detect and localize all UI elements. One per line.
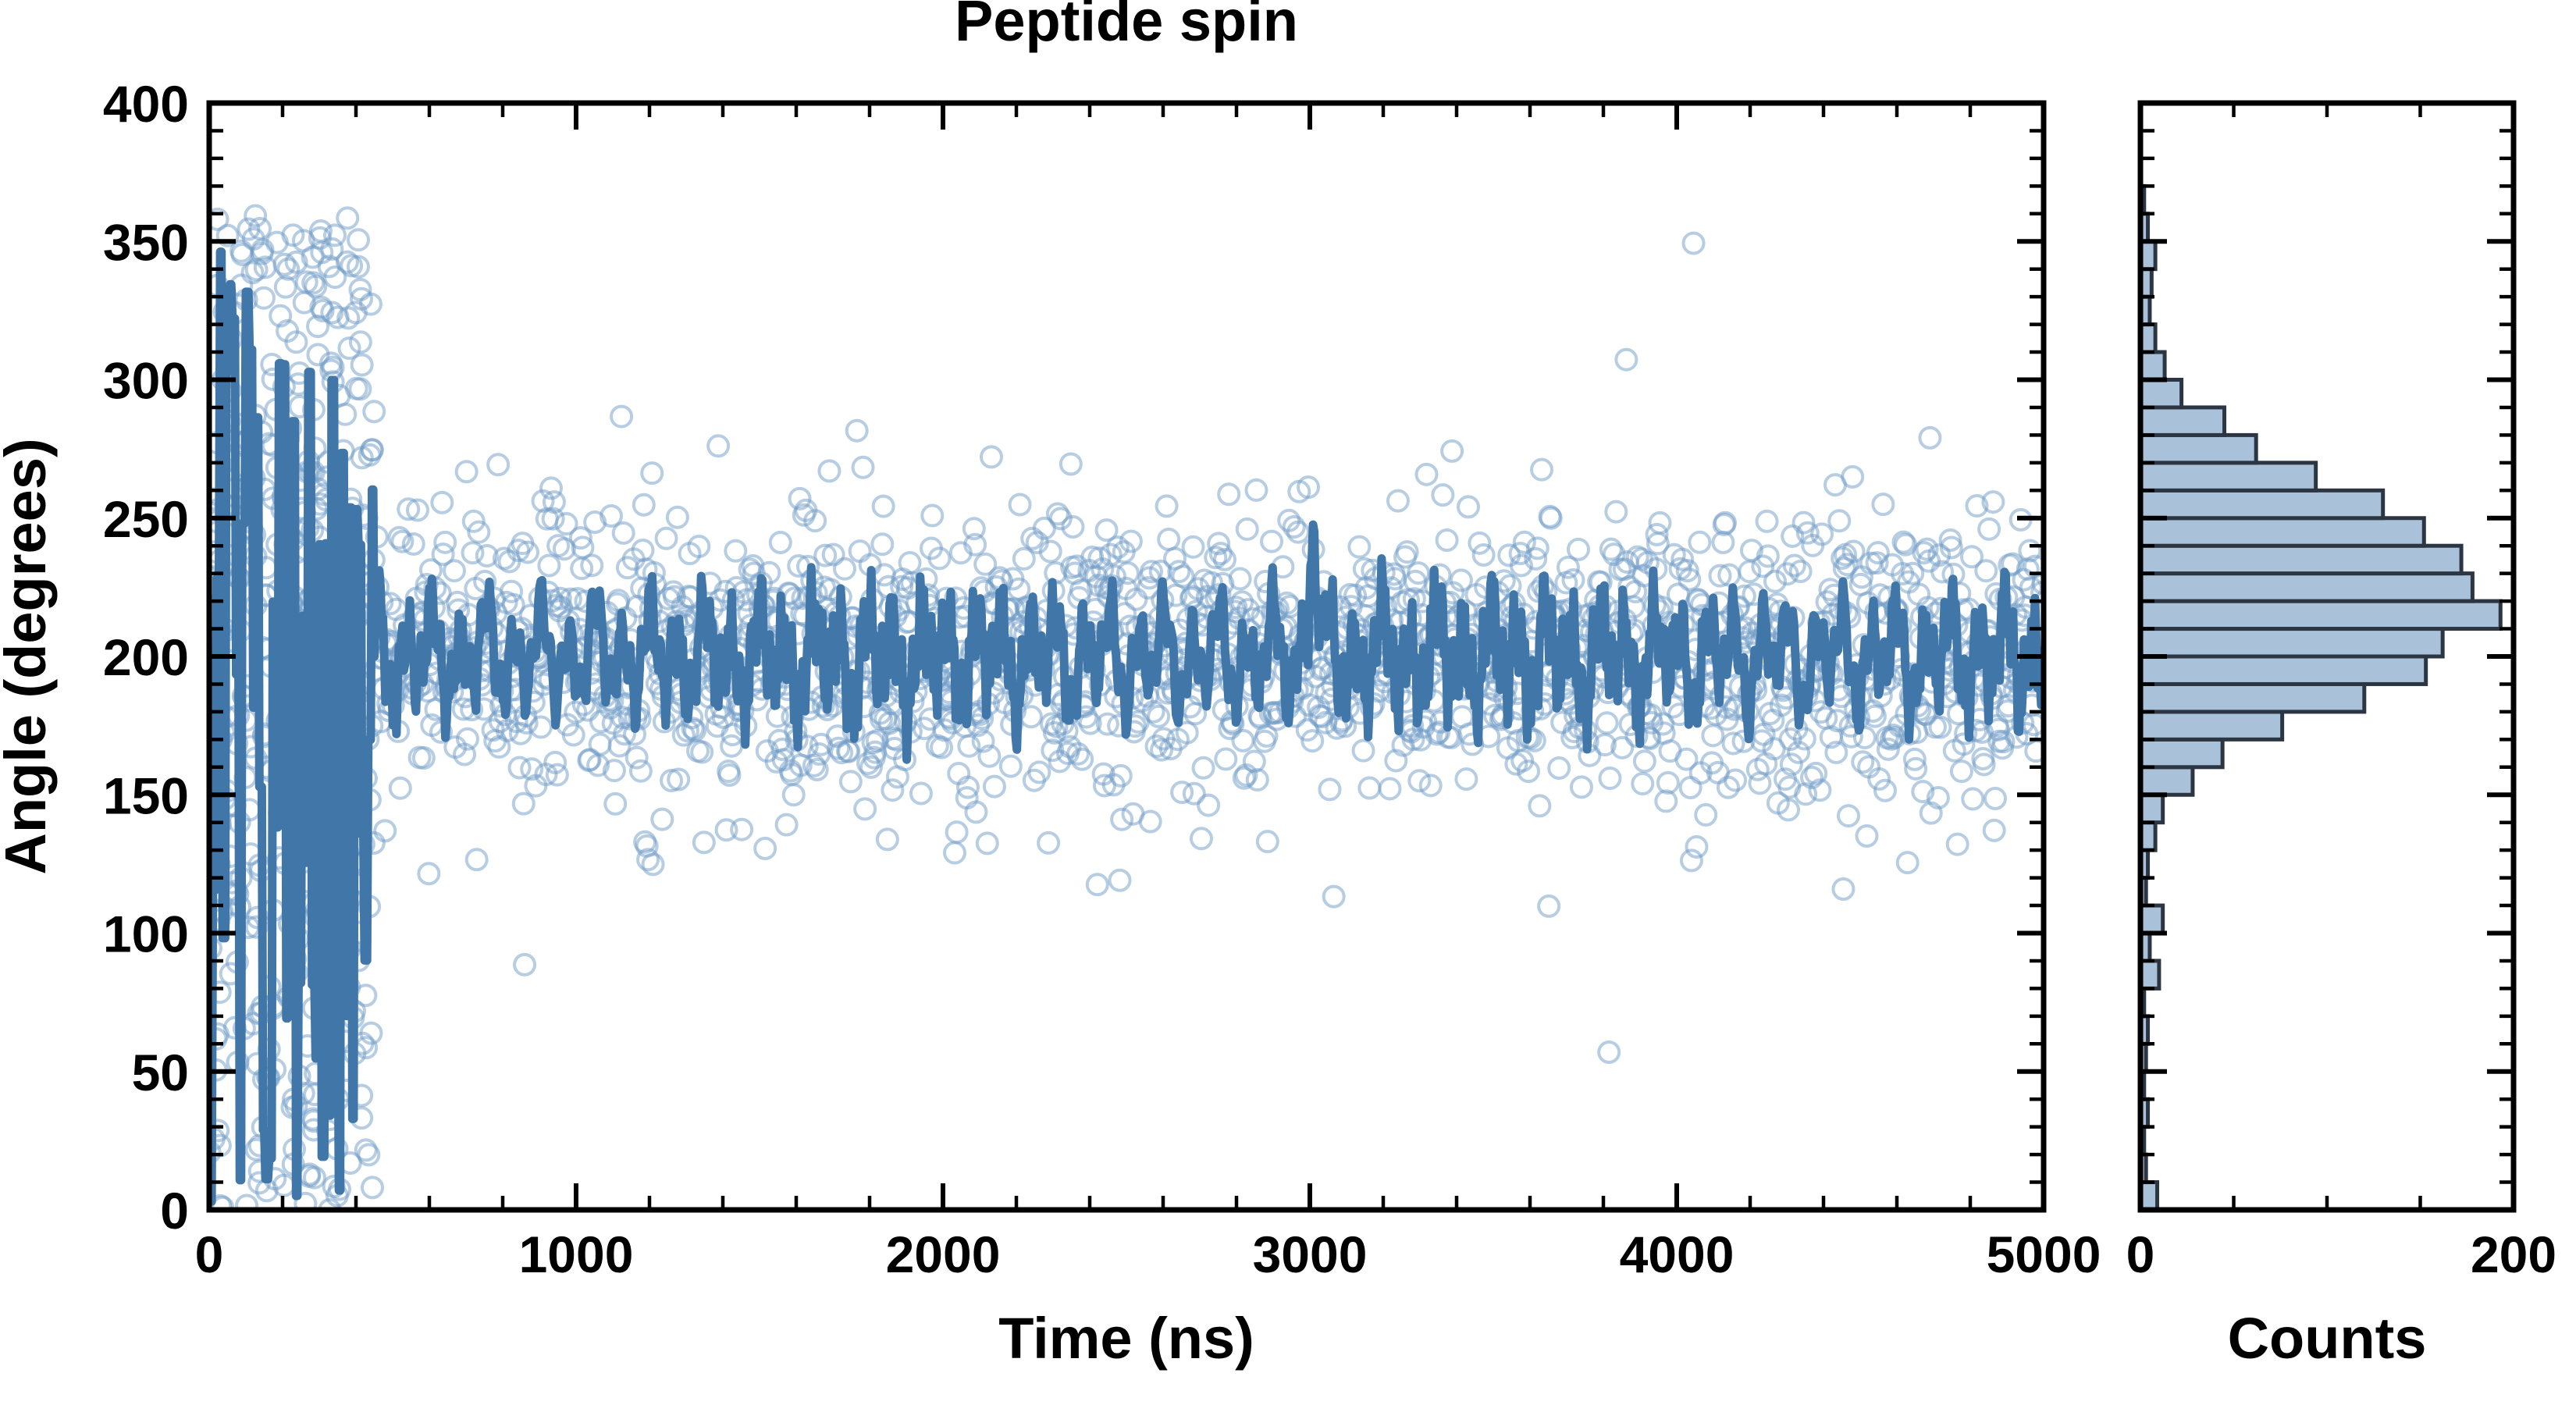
chart-title: Peptide spin xyxy=(955,0,1298,53)
y-tick-label: 300 xyxy=(103,352,189,410)
histogram-bar xyxy=(2140,574,2472,601)
y-axis-title: Angle (degrees) xyxy=(0,438,58,874)
histogram-bar xyxy=(2140,601,2500,628)
histogram-bar xyxy=(2140,352,2165,379)
histogram-bar xyxy=(2140,656,2426,684)
y-tick-label: 0 xyxy=(160,1182,189,1240)
histogram-x-tick-label: 200 xyxy=(2471,1225,2556,1283)
x-tick-label: 2000 xyxy=(886,1225,1001,1283)
histogram-bar xyxy=(2140,407,2225,435)
x-tick-label: 5000 xyxy=(1987,1225,2101,1283)
x-axis-title: Time (ns) xyxy=(998,1306,1254,1371)
histogram-bar xyxy=(2140,490,2383,518)
histogram-bar xyxy=(2140,767,2193,795)
histogram-bar xyxy=(2140,463,2316,490)
histogram-bar xyxy=(2140,629,2443,656)
histogram-bar xyxy=(2140,795,2163,822)
histogram-bar xyxy=(2140,905,2163,933)
histogram-bar xyxy=(2140,684,2364,711)
histogram-x-tick-label: 0 xyxy=(2126,1225,2155,1283)
x-tick-label: 0 xyxy=(195,1225,224,1283)
histogram-bar xyxy=(2140,435,2256,462)
y-tick-label: 250 xyxy=(103,490,189,548)
histogram-x-axis-title: Counts xyxy=(2228,1306,2427,1371)
histogram-bar xyxy=(2140,518,2424,546)
chart-root: 0100020003000400050000501001502002503003… xyxy=(0,0,2576,1405)
histogram-bar xyxy=(2140,739,2222,767)
y-tick-label: 200 xyxy=(103,628,189,686)
y-tick-label: 350 xyxy=(103,213,189,271)
y-tick-label: 100 xyxy=(103,905,189,963)
y-tick-label: 150 xyxy=(103,767,189,824)
x-tick-label: 4000 xyxy=(1620,1225,1735,1283)
x-tick-label: 1000 xyxy=(519,1225,634,1283)
histogram-bar xyxy=(2140,380,2182,407)
x-tick-label: 3000 xyxy=(1253,1225,1368,1283)
peptide-spin-figure: 0100020003000400050000501001502002503003… xyxy=(0,0,2576,1405)
histogram-bar xyxy=(2140,961,2159,988)
y-tick-label: 400 xyxy=(103,75,189,133)
y-tick-label: 50 xyxy=(132,1044,189,1101)
histogram-bar xyxy=(2140,712,2282,739)
histogram-bar xyxy=(2140,546,2461,573)
